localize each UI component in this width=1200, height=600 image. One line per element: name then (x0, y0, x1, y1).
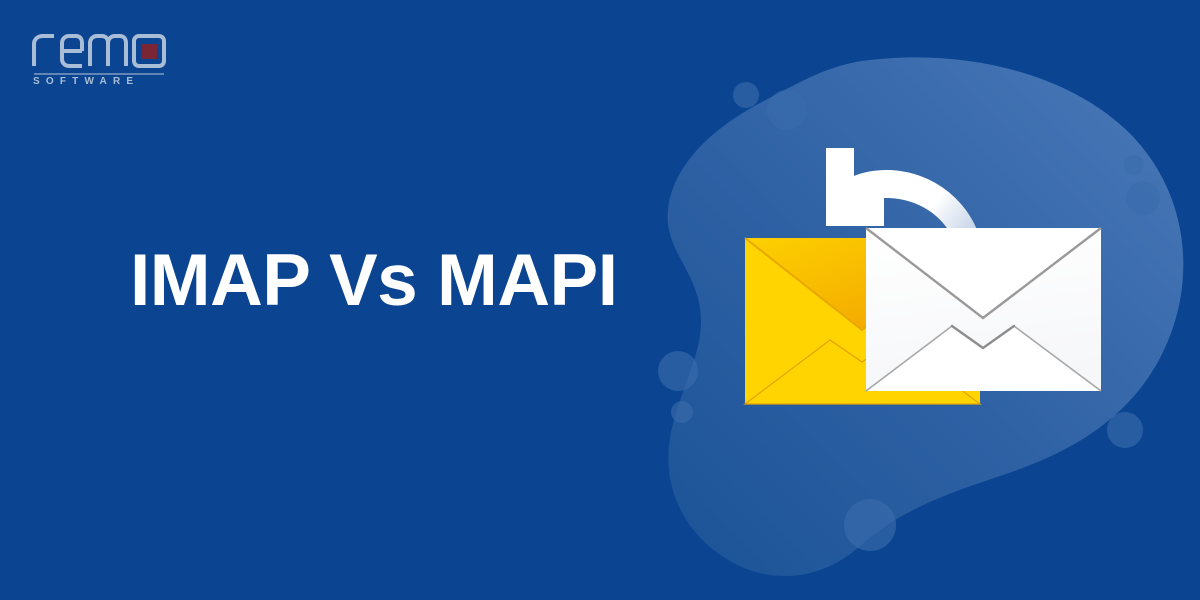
bubble (844, 499, 896, 551)
banner: SOFTWARE IMAP Vs MAPI (0, 0, 1200, 600)
white-envelope (866, 228, 1101, 391)
bubble (1107, 412, 1143, 448)
logo-letter-e (62, 36, 82, 66)
bubble (1124, 155, 1144, 175)
bubble (671, 401, 693, 423)
bubble (1126, 181, 1160, 215)
bubble (733, 82, 759, 108)
page-title: IMAP Vs MAPI (130, 243, 618, 320)
yellow-envelope (745, 238, 980, 404)
bubble (658, 351, 698, 391)
undo-arrow-icon (826, 148, 987, 290)
blob-shape (668, 57, 1184, 576)
logo-letter-r (34, 36, 54, 66)
bubble (767, 90, 807, 130)
logo-accent-square (142, 44, 157, 59)
logo-letter-m (90, 36, 126, 66)
decorative-bubbles (658, 82, 1160, 551)
remo-software-logo[interactable]: SOFTWARE (30, 28, 170, 90)
email-transfer-illustration (745, 148, 1101, 404)
logo-tagline: SOFTWARE (33, 76, 139, 87)
